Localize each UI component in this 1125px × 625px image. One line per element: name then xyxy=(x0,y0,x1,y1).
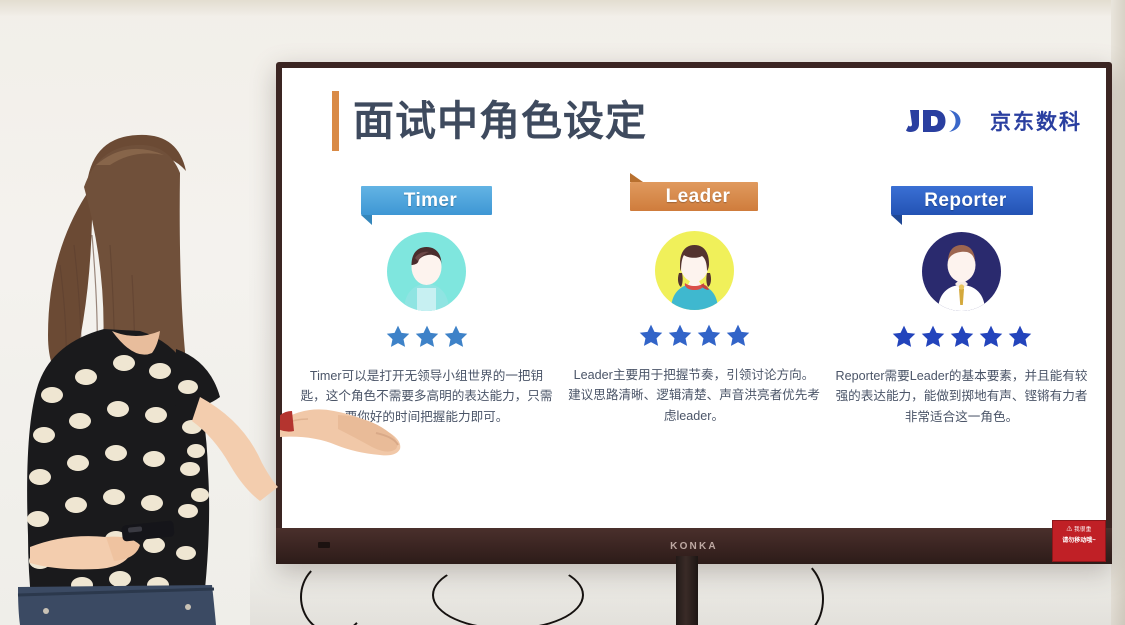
tv-stand-neck xyxy=(676,556,698,625)
power-cable xyxy=(300,560,368,625)
presenter-person xyxy=(0,95,300,625)
banner-tail xyxy=(891,215,902,225)
brand-logo: 京东数科 xyxy=(906,106,1082,136)
presenter-hand xyxy=(280,395,430,475)
role-description-reporter: Reporter需要Leader的基本要素，并且能有较强的表达能力，能做到掷地有… xyxy=(835,366,1088,427)
avatar-timer xyxy=(387,232,466,311)
avatar-leader xyxy=(655,231,734,310)
role-label-reporter: Reporter xyxy=(916,190,1006,212)
room-scene: 面试中角色设定 京东数科 xyxy=(0,0,1125,625)
role-description-leader: Leader主要用于把握节奏，引领讨论方向。建议思路清晰、逻辑清楚、声音洪亮者优… xyxy=(568,365,821,426)
jdd-logo-icon xyxy=(906,106,982,136)
tv-brand-label: KONKA xyxy=(670,541,718,552)
role-banner-leader: Leader xyxy=(630,182,758,211)
role-banner-reporter: Reporter xyxy=(891,186,1033,215)
brand-name: 京东数科 xyxy=(990,106,1082,136)
rating-stars-timer xyxy=(385,324,469,349)
wall-top-band xyxy=(0,0,1125,16)
role-banner-timer: Timer xyxy=(361,186,492,215)
role-label-leader: Leader xyxy=(658,186,731,208)
banner-tail xyxy=(361,215,372,225)
rating-stars-leader xyxy=(638,323,751,348)
role-columns: Timer xyxy=(300,186,1088,427)
role-card-leader: Leader xyxy=(568,182,821,427)
ir-sensor-icon xyxy=(318,542,330,548)
television: 面试中角色设定 京东数科 xyxy=(276,62,1112,564)
sticker-line-1: ⚠ 我很重 xyxy=(1053,526,1105,534)
title-accent-bar xyxy=(332,91,339,151)
role-card-timer: Timer xyxy=(300,186,553,427)
hdmi-cable xyxy=(432,560,584,625)
rating-stars-reporter xyxy=(891,324,1033,349)
warning-sticker: ⚠ 我很重 请勿移动哦~ xyxy=(1052,520,1106,562)
slide-header: 面试中角色设定 京东数科 xyxy=(332,88,1082,154)
role-label-timer: Timer xyxy=(396,190,457,212)
banner-tail xyxy=(630,173,643,182)
sticker-line-2: 请勿移动哦~ xyxy=(1053,537,1105,546)
avatar-reporter xyxy=(922,232,1001,311)
wall-right-edge xyxy=(1111,0,1125,625)
role-card-reporter: Reporter xyxy=(835,186,1088,427)
page-title: 面试中角色设定 xyxy=(353,101,647,142)
